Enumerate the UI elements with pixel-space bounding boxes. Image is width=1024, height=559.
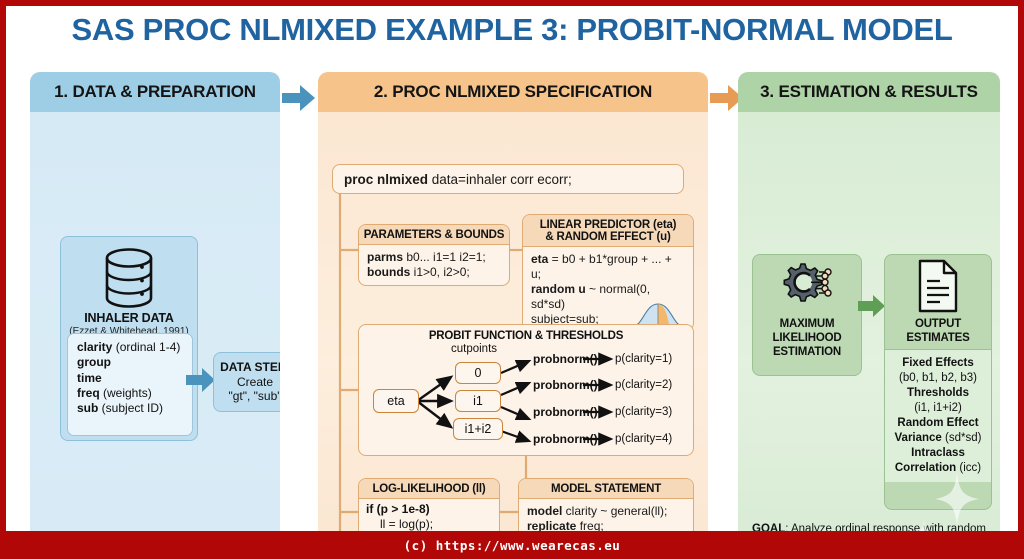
parameters-bounds-card: PARAMETERS & BOUNDS parms b0... i1=1 i2=…	[358, 224, 510, 286]
panel-estimation-results: 3. ESTIMATION & RESULTS	[738, 72, 1000, 531]
parameters-lines: parms b0... i1=1 i2=1;bounds i1>0, i2>0;	[359, 245, 509, 285]
panel3-heading: 3. ESTIMATION & RESULTS	[738, 72, 1000, 112]
page-title: SAS PROC NLMIXED EXAMPLE 3: PROBIT-NORMA…	[6, 12, 1018, 48]
log-likelihood-card: LOG-LIKELIHOOD (ll) if (p > 1e-8)ll = lo…	[358, 478, 500, 531]
gear-circuit-icon-wrap	[777, 255, 837, 317]
inhaler-data-card: INHALER DATA (Ezzet & Whitehead, 1991) c…	[60, 236, 198, 441]
panel1-body: INHALER DATA (Ezzet & Whitehead, 1991) c…	[30, 112, 280, 531]
p-clarity-2: p(clarity=2)	[615, 379, 672, 391]
document-icon-wrap	[885, 255, 991, 317]
cutpoint-i1: i1	[455, 390, 501, 412]
linear-predictor-title: LINEAR PREDICTOR (eta) & RANDOM EFFECT (…	[523, 215, 693, 247]
footer-bar: (c) https://www.wearecas.eu	[0, 531, 1024, 559]
sparkle-small-icon	[914, 520, 934, 531]
inhaler-data-label: INHALER DATA	[61, 311, 197, 325]
document-icon	[916, 259, 960, 313]
code-line: parms b0... i1=1 i2=1;	[367, 250, 501, 265]
footer-text: (c) https://www.wearecas.eu	[404, 538, 621, 553]
gear-circuit-icon	[777, 260, 837, 312]
mle-card: MAXIMUMLIKELIHOODESTIMATION	[752, 254, 862, 376]
data-step-title: DATA STEP:	[220, 360, 280, 374]
p-clarity-4: p(clarity=4)	[615, 433, 672, 445]
proc-keyword: proc nlmixed	[344, 172, 428, 187]
model-statement-lines: model clarity ~ general(ll);replicate fr…	[519, 499, 693, 531]
probit-title: PROBIT FUNCTION & THRESHOLDS	[359, 325, 693, 342]
panel3-body: MAXIMUMLIKELIHOODESTIMATION OUTPUTESTIMA…	[738, 112, 1000, 531]
linear-predictor-title-1: LINEAR PREDICTOR (eta)	[540, 219, 677, 231]
panel1-heading: 1. DATA & PREPARATION	[30, 72, 280, 112]
eta-node: eta	[373, 389, 419, 413]
output-item: Variance (sd*sd)	[888, 431, 988, 446]
probnorm-1: probnorm()	[533, 352, 598, 366]
variable-item: sub (subject ID)	[77, 401, 188, 416]
variable-list: clarity (ordinal 1-4)grouptimefreq (weig…	[67, 333, 193, 436]
variable-item: time	[77, 371, 188, 386]
code-line: eta = b0 + b1*group + ... + u;	[531, 252, 685, 282]
panel-data-preparation: 1. DATA & PREPARATION INHALER DATA (Ezze…	[30, 72, 280, 531]
output-item: Thresholds	[888, 386, 988, 401]
cutpoint-i1i2: i1+i2	[453, 418, 503, 440]
code-line: bounds i1>0, i2>0;	[367, 265, 501, 280]
probnorm-3: probnorm()	[533, 405, 598, 419]
panel2-body: proc nlmixed data=inhaler corr ecorr; PA…	[318, 112, 708, 531]
code-line: ll = log(p);	[366, 517, 492, 531]
code-line: model clarity ~ general(ll);	[527, 504, 685, 519]
probit-diagram: cutpoints eta 0 i1 i1+i2 probnorm() prob…	[359, 345, 693, 457]
output-item: (i1, i1+i2)	[888, 401, 988, 416]
probnorm-2: probnorm()	[533, 378, 598, 392]
cutpoint-0: 0	[455, 362, 501, 384]
proc-nlmixed-statement: proc nlmixed data=inhaler corr ecorr;	[332, 164, 684, 194]
p-clarity-3: p(clarity=3)	[615, 406, 672, 418]
data-step-card: DATA STEP: Create "gt", "sub"	[213, 352, 280, 412]
output-estimates-label: OUTPUTESTIMATES	[885, 317, 991, 345]
output-item: Random Effect	[888, 416, 988, 431]
goal-label: GOAL	[752, 523, 785, 531]
code-line: replicate freq;	[527, 519, 685, 531]
variable-item: group	[77, 355, 188, 370]
linear-predictor-title-2: & RANDOM EFFECT (u)	[545, 231, 670, 243]
arrow-mle-to-output	[858, 294, 886, 318]
output-item: Intraclass	[888, 446, 988, 461]
arrow-panel1-to-panel2	[282, 84, 316, 112]
diagram-canvas: SAS PROC NLMIXED EXAMPLE 3: PROBIT-NORMA…	[6, 6, 1018, 531]
proc-rest: data=inhaler corr ecorr;	[428, 172, 572, 187]
linear-predictor-card: LINEAR PREDICTOR (eta) & RANDOM EFFECT (…	[522, 214, 694, 331]
probnorm-4: probnorm()	[533, 432, 598, 446]
cutpoints-label: cutpoints	[451, 343, 497, 355]
log-likelihood-title: LOG-LIKELIHOOD (ll)	[359, 479, 499, 499]
data-step-line1: Create	[237, 375, 273, 389]
panel-proc-nlmixed: 2. PROC NLMIXED SPECIFICATION proc nlmix…	[318, 72, 708, 531]
arrow-data-to-datastep	[186, 367, 216, 393]
database-icon	[102, 247, 156, 309]
data-step-line2: "gt", "sub"	[228, 389, 280, 403]
variable-item: freq (weights)	[77, 386, 188, 401]
log-likelihood-lines: if (p > 1e-8)ll = log(p);elsell = -1e20;	[359, 499, 499, 531]
code-line: if (p > 1e-8)	[366, 502, 492, 517]
sparkle-icon	[934, 472, 980, 526]
output-item: (b0, b1, b2, b3)	[888, 371, 988, 386]
model-statement-title: MODEL STATEMENT	[519, 479, 693, 499]
output-item: Fixed Effects	[888, 356, 988, 371]
p-clarity-1: p(clarity=1)	[615, 353, 672, 365]
probit-function-card: PROBIT FUNCTION & THRESHOLDS	[358, 324, 694, 456]
parameters-title: PARAMETERS & BOUNDS	[359, 225, 509, 245]
panel2-heading: 2. PROC NLMIXED SPECIFICATION	[318, 72, 708, 112]
variable-item: clarity (ordinal 1-4)	[77, 340, 188, 355]
model-statement-card: MODEL STATEMENT model clarity ~ general(…	[518, 478, 694, 531]
output-estimates-items: Fixed Effects(b0, b1, b2, b3)Thresholds(…	[885, 349, 991, 482]
mle-label: MAXIMUMLIKELIHOODESTIMATION	[773, 317, 842, 359]
